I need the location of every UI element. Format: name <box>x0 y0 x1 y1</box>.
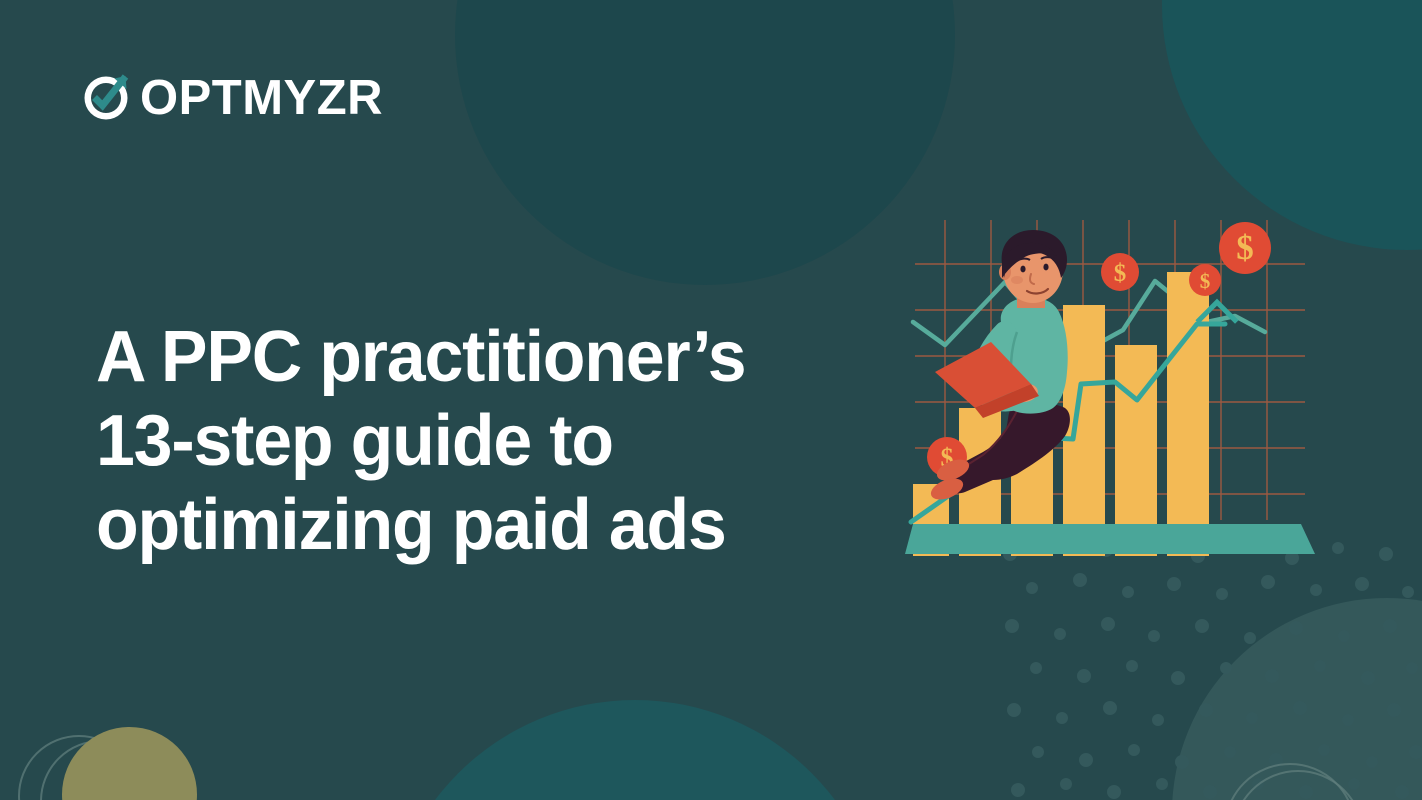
person-eye-right <box>1043 264 1048 271</box>
dollar-coin-small-right: $ <box>1189 264 1221 296</box>
decor-ring-outline-4 <box>1232 770 1364 800</box>
decor-dot-field <box>1002 540 1422 800</box>
bar-chart-illustration-svg: $ $ $ $ <box>905 212 1325 562</box>
banner-canvas: OPTMYZR A PPC practitioner’s 13-step gui… <box>0 0 1422 800</box>
decor-solid-circle-olive <box>62 727 197 800</box>
headline-line-1: A PPC practitioner’s <box>96 315 833 399</box>
headline-line-3: optimizing paid ads <box>96 483 833 567</box>
svg-text:$: $ <box>1236 228 1254 267</box>
brand-logo[interactable]: OPTMYZR <box>78 70 383 126</box>
svg-text:$: $ <box>1114 260 1127 287</box>
person-eye-left <box>1020 266 1025 273</box>
decor-blob-top-left <box>455 0 955 285</box>
dollar-coin-large: $ <box>1219 222 1271 274</box>
decor-blob-bottom-center <box>385 700 885 800</box>
page-title: A PPC practitioner’s 13-step guide to op… <box>96 315 833 567</box>
brand-logo-wordmark: OPTMYZR <box>140 74 383 123</box>
headline-line-2: 13-step guide to <box>96 399 833 483</box>
bar-4 <box>1063 305 1105 556</box>
optmyzr-check-arrow-icon <box>78 70 134 126</box>
person-cheek <box>1011 276 1023 284</box>
decor-ring-outline-3 <box>1224 763 1356 800</box>
decor-blob-bottom-right <box>1172 598 1422 800</box>
hero-illustration: $ $ $ $ <box>905 212 1325 562</box>
decor-ring-outline-2 <box>40 740 162 800</box>
decor-ring-outline-1 <box>18 735 140 800</box>
dollar-coin-mid: $ <box>1101 253 1139 291</box>
svg-text:$: $ <box>1200 269 1211 293</box>
chart-base-platform <box>905 524 1315 554</box>
